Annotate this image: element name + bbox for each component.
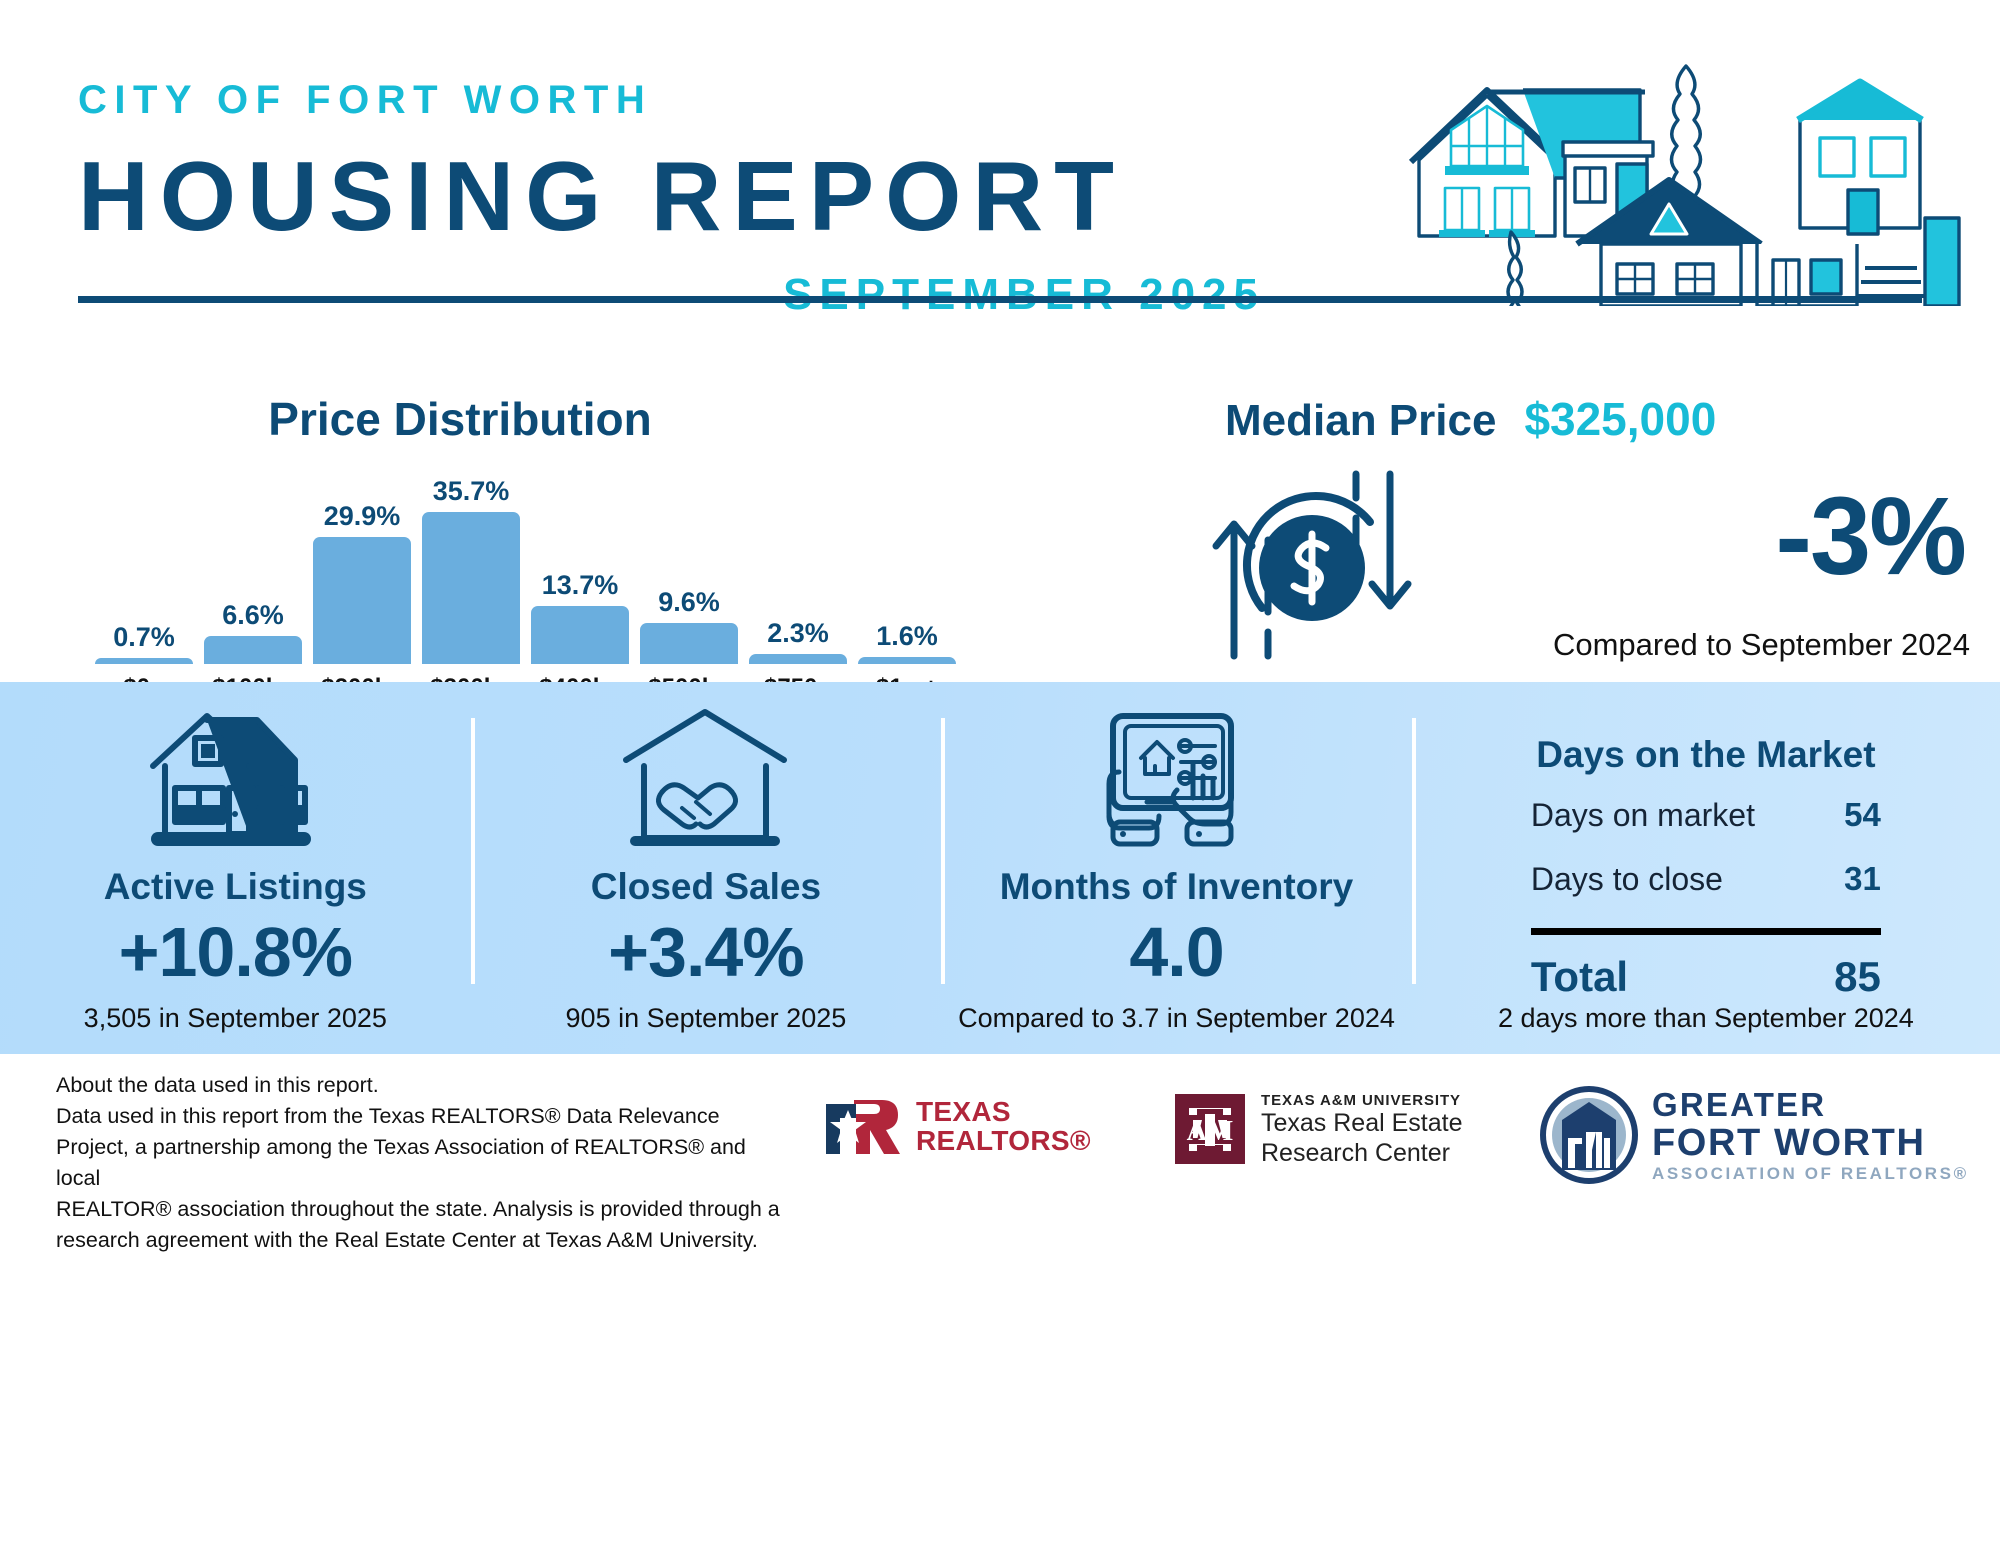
gfw-mark-icon xyxy=(1540,1086,1638,1184)
stat-note: 3,505 in September 2025 xyxy=(84,1003,387,1034)
stat-card-months-inventory: Months of Inventory 4.0 Compared to 3.7 … xyxy=(941,682,1412,1054)
chart-bar xyxy=(858,657,956,664)
house-icon-wrap xyxy=(143,696,328,862)
dollar-circle-arrows-icon xyxy=(1200,456,1425,671)
band-divider xyxy=(1412,718,1416,984)
band-divider xyxy=(471,718,475,984)
chart-bar-column: 0.7% xyxy=(95,472,193,664)
chart-bar-column: 29.9% xyxy=(313,472,411,664)
chart-bar xyxy=(749,654,847,664)
gfw-line3: ASSOCIATION OF REALTORS® xyxy=(1652,1164,1969,1184)
median-price-panel: Median Price $325,000 xyxy=(1175,392,1975,671)
median-price-change: -3% xyxy=(1775,486,1965,587)
about-line: Project, a partnership among the Texas A… xyxy=(56,1132,786,1194)
texas-realtors-line1: TEXAS xyxy=(916,1098,1091,1127)
stat-note: Compared to 3.7 in September 2024 xyxy=(958,1003,1395,1034)
days-row-value: 54 xyxy=(1844,796,1881,834)
about-line: REALTOR® association throughout the stat… xyxy=(56,1194,786,1225)
chart-bar-column: 9.6% xyxy=(640,472,738,664)
about-data-text: About the data used in this report.Data … xyxy=(56,1070,786,1256)
texas-am-wordmark: TEXAS A&M UNIVERSITY Texas Real Estate R… xyxy=(1261,1092,1463,1168)
stat-title: Months of Inventory xyxy=(1000,866,1354,908)
band-divider xyxy=(941,718,945,984)
stat-card-active-listings: Active Listings +10.8% 3,505 in Septembe… xyxy=(0,682,471,1054)
chart-plot-area: 0.7%6.6%29.9%35.7%13.7%9.6%2.3%1.6% xyxy=(95,472,975,664)
chart-bar-value-label: 29.9% xyxy=(324,501,401,532)
about-line: research agreement with the Real Estate … xyxy=(56,1225,786,1256)
chart-bar-value-label: 9.6% xyxy=(658,587,720,618)
report-footer: About the data used in this report.Data … xyxy=(0,1054,2000,1205)
stat-value: 4.0 xyxy=(1129,916,1223,990)
handshake-house-icon-wrap xyxy=(618,696,793,862)
days-row-label: Days on market xyxy=(1531,797,1755,834)
chart-bar-value-label: 2.3% xyxy=(767,618,829,649)
header-divider xyxy=(78,296,1922,303)
stats-band: Active Listings +10.8% 3,505 in Septembe… xyxy=(0,682,2000,1054)
chart-bar xyxy=(531,606,629,664)
tablet-hands-icon-wrap xyxy=(1089,696,1264,862)
svg-text:AM: AM xyxy=(1187,1116,1234,1147)
stat-title: Closed Sales xyxy=(591,866,821,908)
chart-bar-value-label: 13.7% xyxy=(542,570,619,601)
about-line: About the data used in this report. xyxy=(56,1070,786,1101)
greater-fort-worth-logo: GREATER FORT WORTH ASSOCIATION OF REALTO… xyxy=(1540,1086,1969,1184)
chart-bar-value-label: 0.7% xyxy=(113,622,175,653)
texas-realtors-line2: REALTORS® xyxy=(916,1127,1091,1156)
days-note: 2 days more than September 2024 xyxy=(1498,1003,1914,1034)
gfw-wordmark: GREATER FORT WORTH ASSOCIATION OF REALTO… xyxy=(1652,1086,1969,1184)
chart-title: Price Distribution xyxy=(30,392,890,446)
median-price-value: $325,000 xyxy=(1524,392,1716,446)
gfw-line1: GREATER xyxy=(1652,1086,1969,1124)
header-kicker: CITY OF FORT WORTH xyxy=(78,80,1265,120)
days-on-market-title: Days on the Market xyxy=(1536,734,1875,776)
middle-section: Price Distribution 0.7%6.6%29.9%35.7%13.… xyxy=(0,392,2000,682)
texas-realtors-logo: TEXAS REALTORS® xyxy=(824,1096,1091,1158)
chart-bar-value-label: 6.6% xyxy=(222,600,284,631)
days-on-market-rows: Days on market54Days to close31 xyxy=(1531,796,1881,924)
texas-am-mark-icon: AM xyxy=(1175,1094,1247,1166)
price-distribution-chart: Price Distribution 0.7%6.6%29.9%35.7%13.… xyxy=(0,392,1150,732)
chart-bar-column: 2.3% xyxy=(749,472,847,664)
tamu-university-line: TEXAS A&M UNIVERSITY xyxy=(1261,1092,1463,1109)
header-text-block: CITY OF FORT WORTH HOUSING REPORT SEPTEM… xyxy=(78,80,1265,320)
chart-bar-column: 13.7% xyxy=(531,472,629,664)
house-icon xyxy=(143,704,328,854)
report-header: CITY OF FORT WORTH HOUSING REPORT SEPTEM… xyxy=(0,0,2000,392)
days-total-divider xyxy=(1531,928,1881,935)
about-line: Data used in this report from the Texas … xyxy=(56,1101,786,1132)
days-row-value: 31 xyxy=(1844,860,1881,898)
texas-am-logo: AM TEXAS A&M UNIVERSITY Texas Real Estat… xyxy=(1175,1092,1463,1168)
stat-value: +10.8% xyxy=(119,916,352,990)
chart-bar-column: 6.6% xyxy=(204,472,302,664)
days-total-label: Total xyxy=(1531,953,1628,1001)
days-row: Days on market54 xyxy=(1531,796,1881,834)
stat-note: 905 in September 2025 xyxy=(566,1003,847,1034)
chart-bar-value-label: 35.7% xyxy=(433,476,510,507)
chart-bar xyxy=(204,636,302,664)
days-row-label: Days to close xyxy=(1531,861,1723,898)
days-total-value: 85 xyxy=(1834,953,1881,1001)
stat-card-closed-sales: Closed Sales +3.4% 905 in September 2025 xyxy=(471,682,942,1054)
stat-value: +3.4% xyxy=(608,916,803,990)
median-price-note: Compared to September 2024 xyxy=(1553,627,1970,663)
tamu-center-line1: Texas Real Estate xyxy=(1261,1109,1463,1139)
texas-realtors-mark-icon xyxy=(824,1096,902,1158)
chart-bar-value-label: 1.6% xyxy=(876,621,938,652)
days-row: Days to close31 xyxy=(1531,860,1881,898)
chart-bar xyxy=(640,623,738,664)
stat-title: Active Listings xyxy=(104,866,367,908)
chart-bars: 0.7%6.6%29.9%35.7%13.7%9.6%2.3%1.6% xyxy=(95,472,975,664)
header-subtitle: SEPTEMBER 2025 xyxy=(0,270,1265,320)
texas-realtors-wordmark: TEXAS REALTORS® xyxy=(916,1098,1091,1155)
houses-illustration xyxy=(1405,38,1965,306)
chart-bar-column: 1.6% xyxy=(858,472,956,664)
handshake-house-icon xyxy=(618,704,793,854)
median-price-header: Median Price $325,000 xyxy=(1175,392,1975,446)
chart-bar xyxy=(95,658,193,664)
days-total-row: Total 85 xyxy=(1531,953,1881,1001)
page-title: HOUSING REPORT xyxy=(78,142,1265,252)
chart-bar-column: 35.7% xyxy=(422,472,520,664)
chart-bar xyxy=(313,537,411,664)
gfw-line2: FORT WORTH xyxy=(1652,1124,1969,1164)
median-price-body: -3% Compared to September 2024 xyxy=(1175,456,1975,671)
median-price-label: Median Price xyxy=(1225,396,1496,446)
tamu-center-line2: Research Center xyxy=(1261,1139,1463,1169)
chart-bar xyxy=(422,512,520,664)
tablet-hands-icon xyxy=(1089,704,1264,854)
days-on-market-panel: Days on the Market Days on market54Days … xyxy=(1412,682,2000,1054)
